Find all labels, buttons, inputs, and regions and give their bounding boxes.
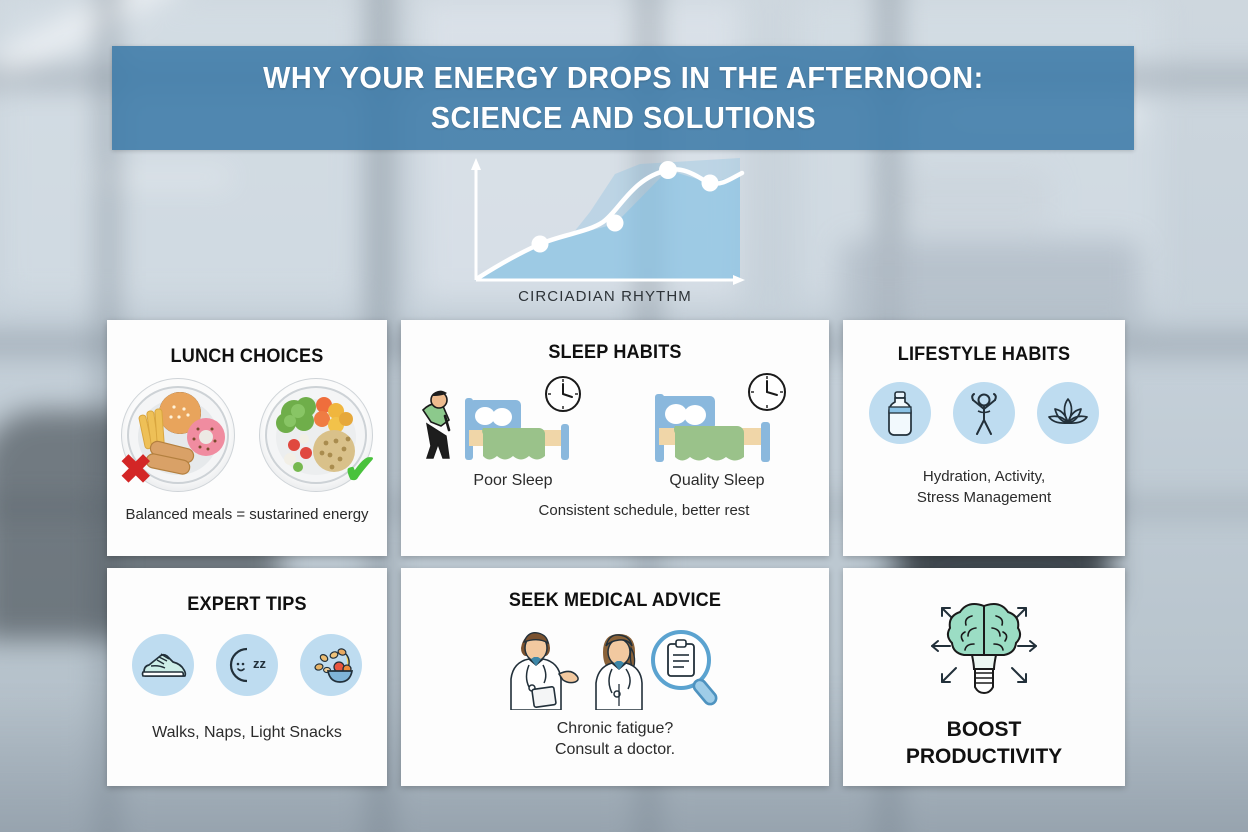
sneaker-icon xyxy=(132,634,194,696)
medical-caption-line2: Consult a doctor. xyxy=(401,739,829,760)
quality-sleep-illustration xyxy=(641,372,791,468)
card-title-lunch-choices: LUNCH CHOICES xyxy=(114,320,380,368)
sleep-label-poor: Poor Sleep xyxy=(448,472,578,490)
page-title-line1: WHY YOUR ENERGY DROPS IN THE AFTERNOON: xyxy=(263,58,984,98)
card-sleep-habits[interactable]: SLEEP HABITS xyxy=(401,320,829,556)
sleep-label-quality: Quality Sleep xyxy=(652,472,782,490)
card-caption-lunch-choices: Balanced meals = sustarined energy xyxy=(107,504,387,525)
svg-text:zz: zz xyxy=(253,656,267,671)
card-lifestyle-habits[interactable]: LIFESTYLE HABITS xyxy=(843,320,1125,556)
stretching-person-icon xyxy=(953,382,1015,444)
chart-caption: CIRCIADIAN RHYTHM xyxy=(440,288,770,305)
infographic-canvas: WHY YOUR ENERGY DROPS IN THE AFTERNOON: … xyxy=(0,0,1248,832)
female-doctor-icon xyxy=(596,634,642,710)
card-seek-medical-advice[interactable]: SEEK MEDICAL ADVICE xyxy=(401,568,829,786)
card-expert-tips[interactable]: EXPERT TIPS zz xyxy=(107,568,387,786)
brain-bulb-icon xyxy=(920,594,1048,698)
medical-caption-line1: Chronic fatigue? xyxy=(401,718,829,739)
red-x-icon: ✖ xyxy=(119,450,153,490)
card-caption-seek-medical-advice: Chronic fatigue? Consult a doctor. xyxy=(401,718,829,760)
sleep-illustrations-group xyxy=(401,372,829,468)
lotus-flower-icon xyxy=(1037,382,1099,444)
card-title-seek-medical-advice: SEEK MEDICAL ADVICE xyxy=(412,568,819,612)
water-bottle-icon xyxy=(869,382,931,444)
card-boost-productivity[interactable]: BOOST PRODUCTIVITY xyxy=(843,568,1125,786)
snack-bowl-icon xyxy=(300,634,362,696)
green-check-icon: ✔ xyxy=(343,450,377,490)
card-caption-expert-tips: Walks, Naps, Light Snacks xyxy=(107,722,387,743)
brain-bulb-illustration xyxy=(843,594,1125,698)
boost-title-line2: PRODUCTIVITY xyxy=(843,743,1125,770)
poor-sleep-illustration xyxy=(439,372,589,468)
card-caption-sleep-habits: Consistent schedule, better rest xyxy=(401,500,829,521)
card-title-boost-productivity: BOOST PRODUCTIVITY xyxy=(843,716,1125,770)
lifestyle-caption-line2: Stress Management xyxy=(843,487,1125,508)
sleep-labels-group: Poor Sleep Quality Sleep xyxy=(401,472,829,490)
header-banner: WHY YOUR ENERGY DROPS IN THE AFTERNOON: … xyxy=(112,46,1134,150)
moon-zz-icon: zz xyxy=(216,634,278,696)
card-title-lifestyle-habits: LIFESTYLE HABITS xyxy=(850,320,1118,366)
card-caption-lifestyle-habits: Hydration, Activity, Stress Management xyxy=(843,466,1125,508)
card-title-expert-tips: EXPERT TIPS xyxy=(114,568,380,616)
male-doctor-icon xyxy=(511,633,578,710)
lifestyle-icons-group xyxy=(843,382,1125,444)
card-lunch-choices[interactable]: LUNCH CHOICES xyxy=(107,320,387,556)
doctors-illustration-group xyxy=(401,618,829,710)
card-title-sleep-habits: SLEEP HABITS xyxy=(412,320,819,364)
magnifier-clipboard-icon xyxy=(653,632,719,707)
page-title: WHY YOUR ENERGY DROPS IN THE AFTERNOON: … xyxy=(263,58,984,138)
lifestyle-caption-line1: Hydration, Activity, xyxy=(843,466,1125,487)
boost-title-line1: BOOST xyxy=(843,716,1125,743)
lunch-plates-group: ✖ ✔ xyxy=(107,378,387,492)
expert-tips-icons-group: zz xyxy=(107,634,387,696)
page-title-line2: SCIENCE AND SOLUTIONS xyxy=(263,98,984,138)
